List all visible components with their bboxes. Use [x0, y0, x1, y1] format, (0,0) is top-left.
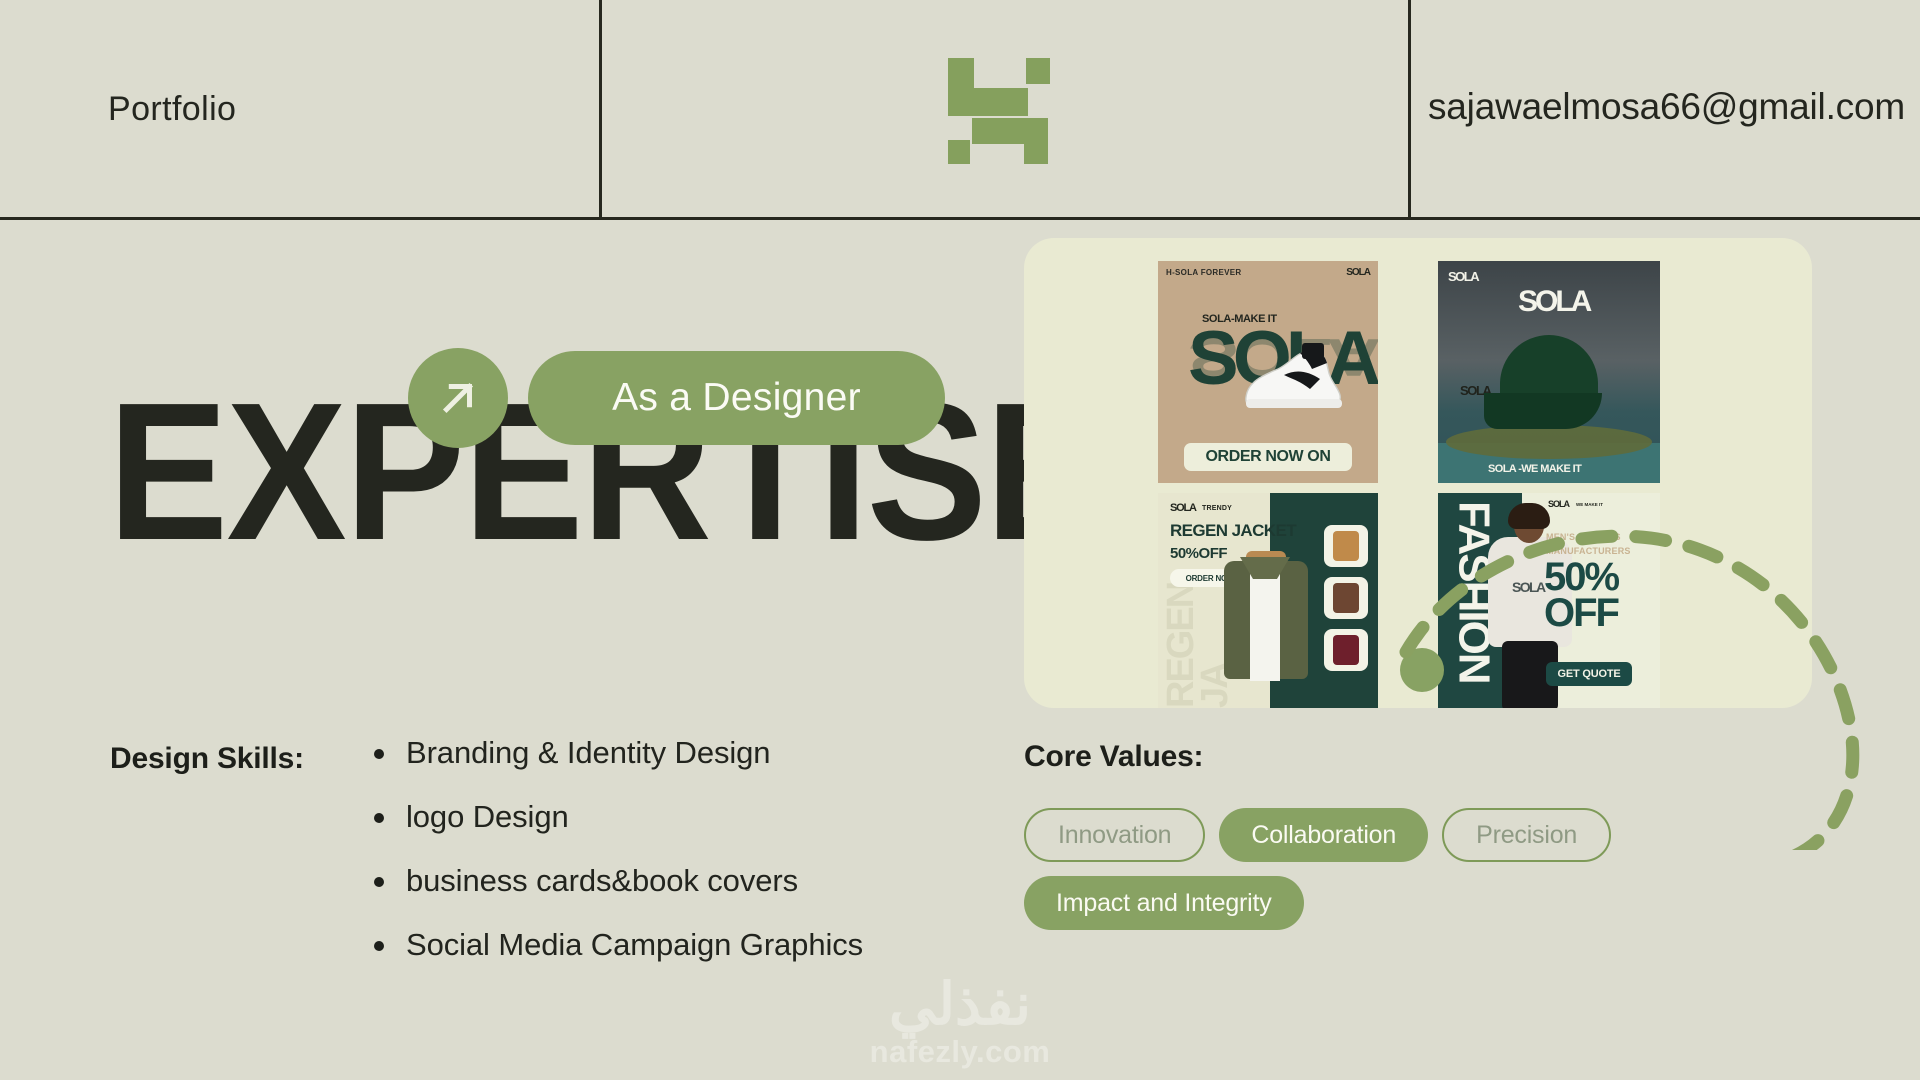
card-discount: 50%OFF [1544, 559, 1618, 631]
swatch-thumbnail[interactable] [1324, 629, 1368, 671]
jacket-ad-card[interactable]: REGEN JA SOLA TRENDY REGEN JACKET 50%OFF… [1158, 493, 1378, 708]
card-eyebrow: H-SOLA FOREVER [1166, 268, 1241, 277]
kicker-line-2: MANUFACTURERS [1546, 546, 1631, 556]
card-logo: SOLA [1548, 499, 1569, 509]
portfolio-showcase-panel: H-SOLA FOREVER SOLA SOLA-MAKE IT SOLA SO… [1024, 238, 1812, 708]
sneaker-ad-card[interactable]: H-SOLA FOREVER SOLA SOLA-MAKE IT SOLA SO… [1158, 261, 1378, 483]
get-quote-button[interactable]: GET QUOTE [1546, 662, 1632, 686]
swatch-thumbnail[interactable] [1324, 525, 1368, 567]
card-tagline: SOLA -WE MAKE IT [1488, 463, 1581, 475]
list-item: Branding & Identity Design [372, 735, 863, 771]
header-divider-right [1408, 0, 1411, 218]
swatch-thumbnail[interactable] [1324, 577, 1368, 619]
core-value-chip-collaboration[interactable]: Collaboration [1219, 808, 1428, 862]
as-a-designer-badge[interactable]: As a Designer [528, 351, 945, 445]
fashion-hoodie-ad-card[interactable]: FASHION SOLA SOLA WE MAKE IT MEN'S HOODI… [1438, 493, 1660, 708]
portfolio-label: Portfolio [108, 90, 236, 129]
core-values-chip-group: Innovation Collaboration Precision Impac… [1024, 808, 1824, 930]
card-logo-subtitle: WE MAKE IT [1576, 502, 1603, 507]
card-logo: SOLA [1346, 267, 1370, 278]
header-divider-left [599, 0, 602, 218]
watermark-latin: nafezly.com [870, 1034, 1051, 1070]
card-corner-logo: SOLA [1448, 269, 1478, 284]
core-values-heading: Core Values: [1024, 740, 1203, 774]
list-item: Social Media Campaign Graphics [372, 927, 863, 963]
sola-monogram-logo-icon [948, 58, 1064, 168]
cap-ad-card[interactable]: SOLA SOLA SOLA SOLA -WE MAKE IT [1438, 261, 1660, 483]
watermark: نفذلي nafezly.com [870, 976, 1051, 1070]
contact-email[interactable]: sajawaelmosa66@gmail.com [1428, 86, 1905, 128]
list-item: logo Design [372, 799, 863, 835]
hoodie-wordmark: SOLA [1512, 579, 1545, 595]
design-skills-list: Branding & Identity Design logo Design b… [372, 735, 863, 991]
arrow-up-right-icon[interactable] [408, 348, 508, 448]
core-value-chip-precision[interactable]: Precision [1442, 808, 1611, 862]
header-bottom-rule [0, 217, 1920, 220]
card-logo: SOLA [1170, 502, 1196, 514]
sneaker-illustration [1238, 335, 1348, 413]
design-skills-heading: Design Skills: [110, 742, 304, 776]
order-now-button[interactable]: ORDER NOW ON [1184, 443, 1352, 471]
kicker-line-1: MEN'S HOODIES [1546, 532, 1621, 542]
portfolio-grid: H-SOLA FOREVER SOLA SOLA-MAKE IT SOLA SO… [1024, 238, 1812, 708]
core-value-chip-innovation[interactable]: Innovation [1024, 808, 1205, 862]
cap-illustration [1484, 335, 1614, 433]
jacket-illustration [1210, 551, 1322, 683]
header-bar: Portfolio sajawaelmosa66@gmail.com [0, 0, 1920, 220]
card-eyebrow: TRENDY [1202, 505, 1232, 512]
card-kicker: MEN'S HOODIES MANUFACTURERS [1546, 531, 1631, 558]
slide-canvas: Portfolio sajawaelmosa66@gmail.com EXPER… [0, 0, 1920, 1080]
card-headline: REGEN JACKET [1170, 521, 1296, 541]
curve-endpoint-dot [1400, 648, 1444, 692]
watermark-arabic: نفذلي [870, 976, 1051, 1034]
card-wordmark: SOLA [1518, 285, 1589, 319]
core-value-chip-impact-and-integrity[interactable]: Impact and Integrity [1024, 876, 1304, 930]
list-item: business cards&book covers [372, 863, 863, 899]
